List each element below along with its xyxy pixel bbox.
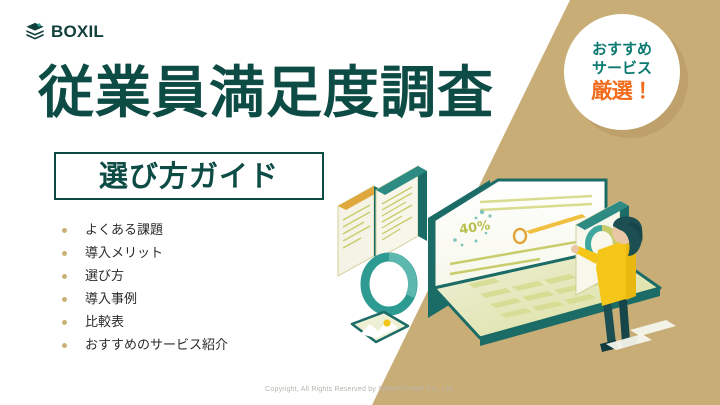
bullet-dot-icon — [62, 228, 67, 233]
floor-papers — [606, 320, 676, 350]
list-item-label: 選び方 — [85, 270, 124, 283]
list-item-label: 比較表 — [85, 316, 124, 329]
status-badge: おすすめ サービス 厳選！ — [564, 14, 694, 140]
stacked-books-icon — [24, 20, 46, 42]
list-item[interactable]: 導入事例 — [62, 289, 228, 310]
list-item[interactable]: 導入メリット — [62, 243, 228, 264]
toc-list: よくある課題 導入メリット 選び方 導入事例 比較表 おすすめのサービス紹介 — [62, 220, 228, 358]
bullet-dot-icon — [62, 343, 67, 348]
list-item[interactable]: 選び方 — [62, 266, 228, 287]
badge-line-3: 厳選！ — [591, 80, 653, 103]
copyright-text: Copyright, All Rights Reserved by SMARTC… — [0, 386, 720, 393]
logo-wordmark: BOXIL — [51, 23, 104, 40]
boxil-logo[interactable]: BOXIL — [24, 20, 104, 42]
subtitle-box: 選び方ガイド — [54, 152, 324, 200]
pointer-card — [352, 312, 408, 342]
badge-circle: おすすめ サービス 厳選！ — [564, 14, 680, 130]
subtitle-label: 選び方ガイド — [99, 162, 279, 191]
list-item-label: 導入メリット — [85, 247, 163, 260]
list-item-label: よくある課題 — [85, 224, 163, 237]
list-item[interactable]: よくある課題 — [62, 220, 228, 241]
slide-canvas: BOXIL 従業員満足度調査 選び方ガイド よくある課題 導入メリット 選び方 … — [0, 0, 720, 405]
list-item[interactable]: おすすめのサービス紹介 — [62, 335, 228, 356]
list-item-label: おすすめのサービス紹介 — [85, 339, 228, 352]
list-item-label: 導入事例 — [85, 293, 137, 306]
bullet-dot-icon — [62, 297, 67, 302]
bullet-dot-icon — [62, 251, 67, 256]
isometric-laptop-analytics-illustration: 40% — [330, 128, 700, 378]
badge-line-2: サービス — [592, 60, 652, 77]
document-card-front — [376, 166, 427, 260]
bullet-dot-icon — [62, 320, 67, 325]
donut-chart — [365, 257, 413, 311]
list-item[interactable]: 比較表 — [62, 312, 228, 333]
bullet-dot-icon — [62, 274, 67, 279]
badge-line-1: おすすめ — [592, 41, 652, 58]
page-title: 従業員満足度調査 — [38, 66, 494, 122]
